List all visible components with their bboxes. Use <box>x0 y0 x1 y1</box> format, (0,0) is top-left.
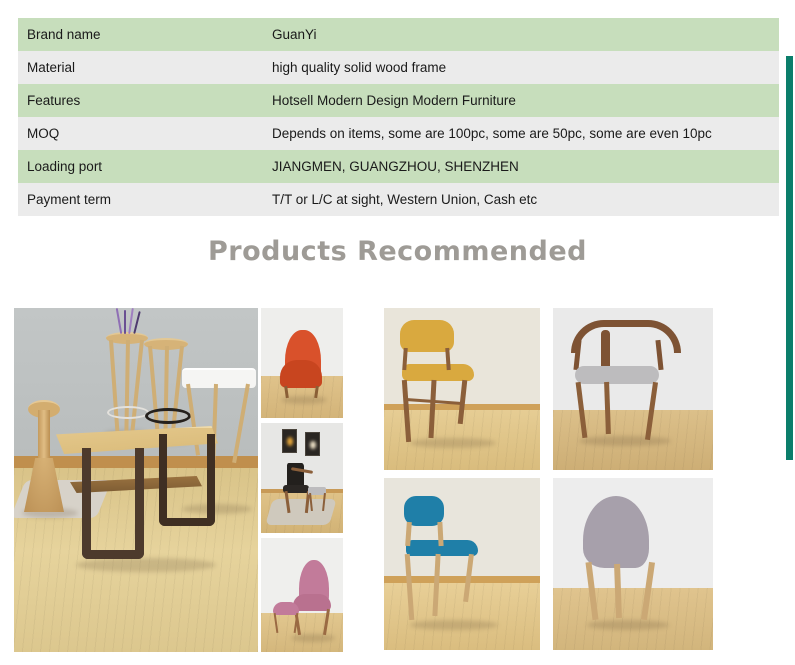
room-scene <box>261 423 343 533</box>
bar-stool-a-ring <box>107 406 149 419</box>
room-scene <box>261 538 343 652</box>
decor-stick <box>133 311 141 334</box>
dining-table-metal-leg-front <box>82 448 144 559</box>
decor-stick <box>124 310 126 334</box>
room-scene <box>261 308 343 418</box>
chair-shadow <box>410 438 496 448</box>
black-chair-and-stool-photo[interactable] <box>261 423 343 533</box>
room-scene <box>384 478 540 650</box>
wooden-dining-table-room-photo[interactable] <box>14 308 258 652</box>
pink-chair-and-ottoman-photo[interactable] <box>261 538 343 652</box>
decor-stick <box>116 308 122 334</box>
dining-table-shadow <box>76 558 216 572</box>
wood-floor <box>261 613 343 652</box>
orange-armchair-photo[interactable] <box>261 308 343 418</box>
art-glow <box>310 441 316 449</box>
lilac-shell-chair-photo[interactable] <box>553 478 713 650</box>
wood-floor <box>553 588 713 650</box>
room-scene <box>384 308 540 470</box>
walnut-armchair-crest-rail <box>571 320 681 353</box>
yellow-dining-chair-photo[interactable] <box>384 308 540 470</box>
chair-shadow <box>579 436 671 446</box>
chair-shadow <box>587 620 669 630</box>
pink-ottoman-seat <box>273 602 299 615</box>
blue-dining-chair-photo[interactable] <box>384 478 540 650</box>
yellow-chair-seat <box>402 364 474 381</box>
chair-shadow <box>410 620 498 630</box>
room-scene <box>553 308 713 470</box>
dining-table-metal-leg-back <box>159 434 215 526</box>
pink-chair-shadow <box>291 634 335 642</box>
walnut-armchair-grey-seat-photo[interactable] <box>553 308 713 470</box>
room-scene <box>553 478 713 650</box>
room-scene <box>14 308 258 652</box>
rug <box>265 499 336 525</box>
art-glow <box>287 437 293 446</box>
grey-seat-cushion <box>575 366 659 384</box>
vase-with-sticks <box>110 308 148 338</box>
products-recommended-gallery <box>0 0 795 665</box>
orange-armchair-seat <box>280 360 322 388</box>
bar-stool-b-ring <box>145 408 191 424</box>
wall-art-frame-right <box>305 432 320 456</box>
wall-art-frame-left <box>282 429 297 453</box>
